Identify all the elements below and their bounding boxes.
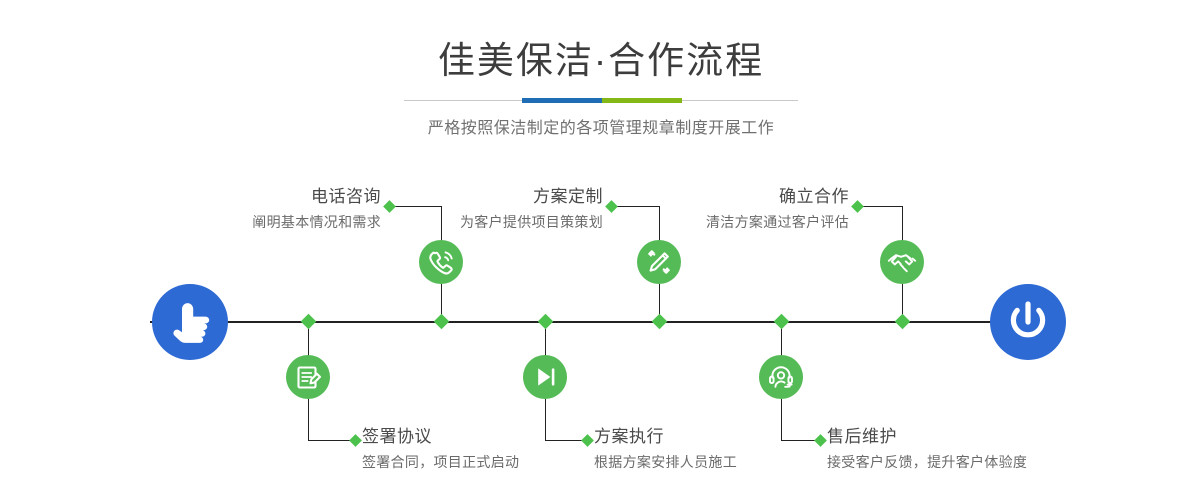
step-title-3: 方案定制 [415, 186, 603, 208]
step-icon-6[interactable] [759, 355, 803, 399]
step-subtitle-4: 根据方案安排人员施工 [594, 448, 804, 473]
timeline: 电话咨询 阐明基本情况和需求 签署协议 签署合同，项目正式启动 [0, 0, 1202, 502]
label-marker-6 [814, 434, 827, 447]
connector-line-4-lower [545, 399, 546, 441]
connector-line-5-upper [902, 206, 903, 242]
label-marker-5 [851, 200, 864, 213]
connector-line-2-lower [308, 399, 309, 441]
axis-marker-2 [301, 314, 317, 330]
timeline-start-node[interactable] [152, 284, 228, 360]
connector-line-1-upper [441, 206, 442, 242]
step-label-2: 签署协议 签署合同，项目正式启动 [362, 426, 582, 473]
step-icon-4[interactable] [523, 355, 567, 399]
pencil-design-icon [637, 240, 681, 284]
connector-line-3-upper [659, 206, 660, 242]
step-title-4: 方案执行 [594, 426, 804, 448]
axis-marker-4 [538, 314, 554, 330]
label-marker-2 [349, 434, 362, 447]
step-subtitle-6: 接受客户反馈，提升客户体验度 [827, 448, 1077, 473]
timeline-axis [150, 321, 1050, 323]
label-marker-3 [605, 200, 618, 213]
step-title-5: 确立合作 [660, 186, 849, 208]
label-marker-4 [581, 434, 594, 447]
power-icon [990, 284, 1066, 360]
play-execute-icon [523, 355, 567, 399]
step-subtitle-3: 为客户提供项目策策划 [415, 208, 603, 233]
step-subtitle-1: 阐明基本情况和需求 [195, 208, 381, 233]
timeline-end-node[interactable] [990, 284, 1066, 360]
step-title-6: 售后维护 [827, 426, 1077, 448]
connector-elbow-3 [612, 206, 660, 207]
handshake-icon [880, 240, 924, 284]
step-icon-1[interactable] [419, 240, 463, 284]
axis-marker-3 [652, 314, 668, 330]
step-label-3: 方案定制 为客户提供项目策策划 [415, 186, 603, 233]
step-label-1: 电话咨询 阐明基本情况和需求 [195, 186, 381, 233]
step-subtitle-5: 清洁方案通过客户评估 [660, 208, 849, 233]
connector-elbow-5 [858, 206, 903, 207]
step-icon-3[interactable] [637, 240, 681, 284]
step-icon-5[interactable] [880, 240, 924, 284]
axis-marker-5 [895, 314, 911, 330]
step-label-4: 方案执行 根据方案安排人员施工 [594, 426, 804, 473]
axis-marker-1 [434, 314, 450, 330]
step-icon-2[interactable] [286, 355, 330, 399]
document-sign-icon [286, 355, 330, 399]
step-subtitle-2: 签署合同，项目正式启动 [362, 448, 582, 473]
connector-elbow-1 [390, 206, 442, 207]
connector-line-6-lower [781, 399, 782, 441]
step-title-1: 电话咨询 [195, 186, 381, 208]
step-title-2: 签署协议 [362, 426, 582, 448]
phone-call-icon [419, 240, 463, 284]
pointing-hand-icon [152, 284, 228, 360]
label-marker-1 [383, 200, 396, 213]
customer-service-icon [759, 355, 803, 399]
cooperation-process-infographic: 佳美保洁·合作流程 严格按照保洁制定的各项管理规章制度开展工作 [0, 0, 1202, 502]
step-label-6: 售后维护 接受客户反馈，提升客户体验度 [827, 426, 1077, 473]
axis-marker-6 [774, 314, 790, 330]
step-label-5: 确立合作 清洁方案通过客户评估 [660, 186, 849, 233]
